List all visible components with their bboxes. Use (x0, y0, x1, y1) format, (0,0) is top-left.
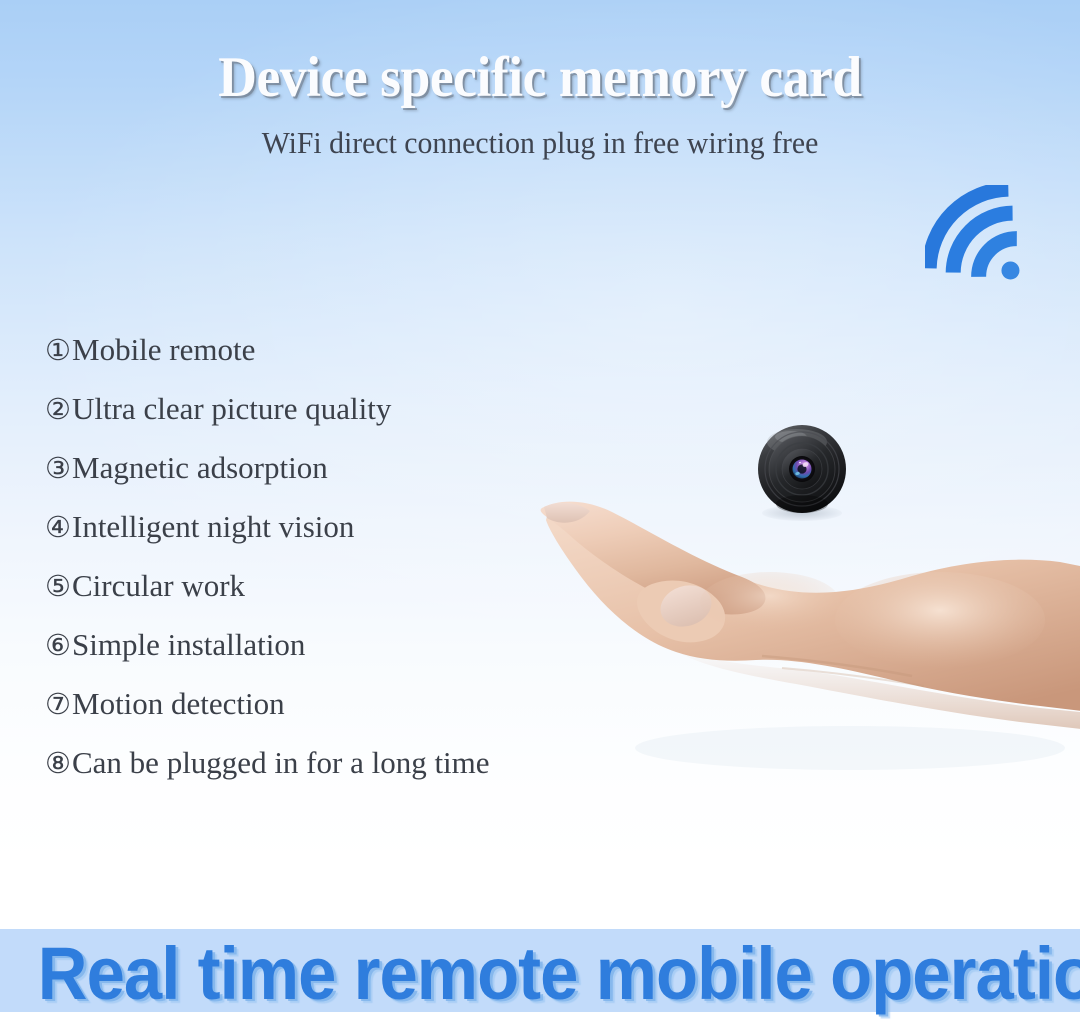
list-item-number: ① (45, 331, 71, 371)
list-item: ⑥ Simple installation (45, 625, 665, 684)
list-item-label: Circular work (72, 566, 245, 606)
list-item-label: Simple installation (72, 625, 305, 665)
list-item-number: ⑤ (45, 567, 71, 607)
list-item-number: ④ (45, 508, 71, 548)
list-item: ⑧ Can be plugged in for a long time (45, 743, 665, 802)
list-item: ② Ultra clear picture quality (45, 389, 665, 448)
list-item-label: Motion detection (72, 684, 285, 724)
list-item-number: ⑦ (45, 685, 71, 725)
list-item-label: Magnetic adsorption (72, 448, 328, 488)
feature-list: ① Mobile remote ② Ultra clear picture qu… (45, 330, 665, 802)
page-title: Device specific memory card (32, 43, 1047, 113)
wifi-icon (925, 185, 1045, 305)
mini-camera-device-icon (757, 424, 847, 514)
list-item: ③ Magnetic adsorption (45, 448, 665, 507)
list-item: ① Mobile remote (45, 330, 665, 389)
list-item-label: Can be plugged in for a long time (72, 743, 490, 783)
list-item-label: Intelligent night vision (72, 507, 354, 547)
product-poster: Device specific memory card WiFi direct … (0, 0, 1080, 1025)
list-item: ④ Intelligent night vision (45, 507, 665, 566)
list-item-label: Ultra clear picture quality (72, 389, 391, 429)
list-item-number: ⑥ (45, 626, 71, 666)
list-item-number: ③ (45, 449, 71, 489)
banner-headline: Real time remote mobile operation (38, 934, 1042, 1014)
list-item: ⑦ Motion detection (45, 684, 665, 743)
list-item-number: ② (45, 390, 71, 430)
list-item: ⑤ Circular work (45, 566, 665, 625)
list-item-number: ⑧ (45, 744, 71, 784)
list-item-label: Mobile remote (72, 330, 255, 370)
page-subtitle: WiFi direct connection plug in free wiri… (22, 122, 1059, 164)
